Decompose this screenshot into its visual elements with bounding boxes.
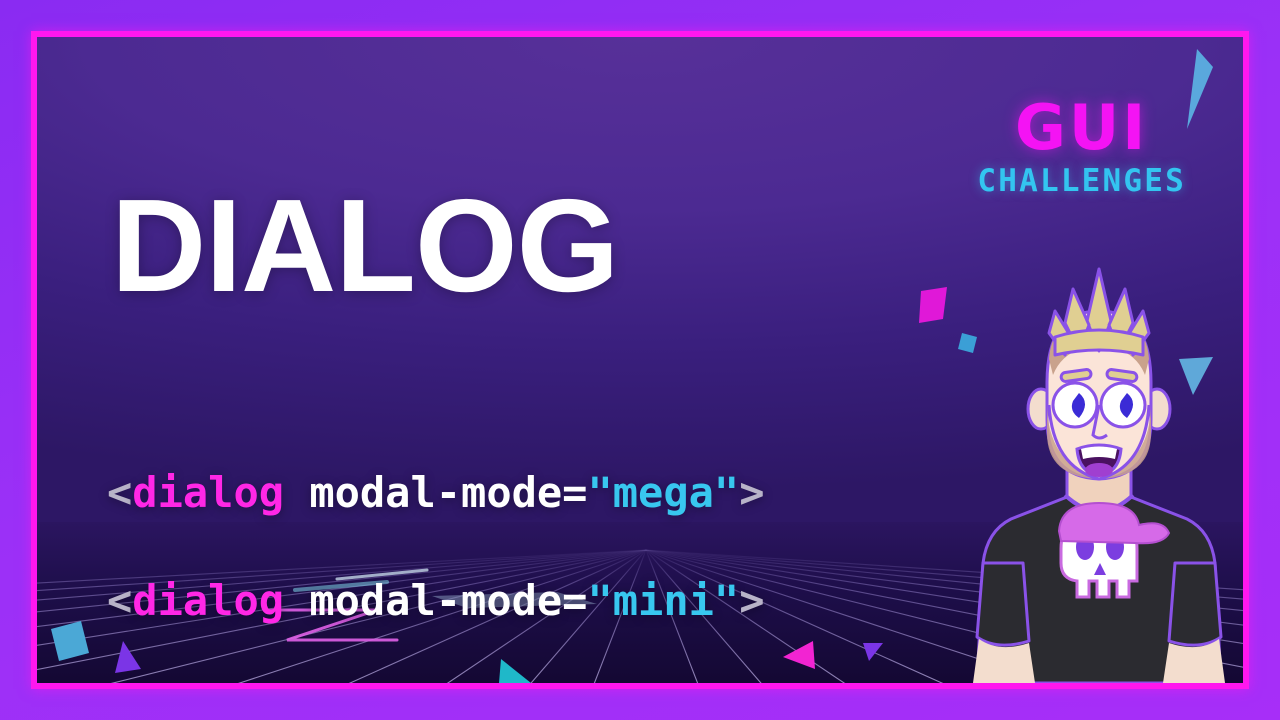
page-title: DIALOG — [111, 180, 618, 312]
code-tag-name: dialog — [132, 576, 284, 625]
magenta-frame: DIALOG <dialog modal-mode="mega"> <dialo… — [31, 31, 1249, 689]
avatar-hair-icon — [1049, 269, 1149, 355]
brand-logo: GUI CHALLENGES — [977, 99, 1186, 198]
avatar-sleeve-right — [1169, 563, 1221, 645]
code-tag-name: dialog — [132, 468, 284, 517]
code-value: "mega" — [587, 468, 739, 517]
avatar — [949, 263, 1243, 683]
blue-shard-top-right-icon — [1187, 49, 1213, 129]
logo-challenges-text: CHALLENGES — [977, 164, 1186, 198]
code-line-2: <dialog modal-mode="mini"> — [107, 574, 764, 628]
blue-square-bottom-left-icon — [51, 621, 89, 661]
purple-triangle-bottom-icon — [863, 643, 883, 661]
code-close-bracket: > — [739, 468, 764, 517]
thumbnail-canvas: DIALOG <dialog modal-mode="mega"> <dialo… — [0, 0, 1280, 720]
avatar-tongue — [1085, 463, 1113, 477]
code-space — [284, 576, 309, 625]
code-open-bracket: < — [107, 576, 132, 625]
code-close-bracket: > — [739, 576, 764, 625]
code-attribute: modal-mode= — [309, 576, 587, 625]
code-space — [284, 468, 309, 517]
avatar-head — [1028, 269, 1170, 479]
code-line-1: <dialog modal-mode="mega"> — [107, 466, 764, 520]
magenta-triangle-bottom-icon — [783, 641, 815, 669]
logo-gui-text: GUI — [977, 99, 1186, 158]
avatar-sleeve-left — [977, 563, 1029, 645]
magenta-quad-upper-icon — [919, 287, 947, 323]
scene-background: DIALOG <dialog modal-mode="mega"> <dialo… — [37, 37, 1243, 683]
code-open-bracket: < — [107, 468, 132, 517]
code-value: "mini" — [587, 576, 739, 625]
code-snippet: <dialog modal-mode="mega"> <dialog modal… — [107, 412, 764, 683]
code-attribute: modal-mode= — [309, 468, 587, 517]
